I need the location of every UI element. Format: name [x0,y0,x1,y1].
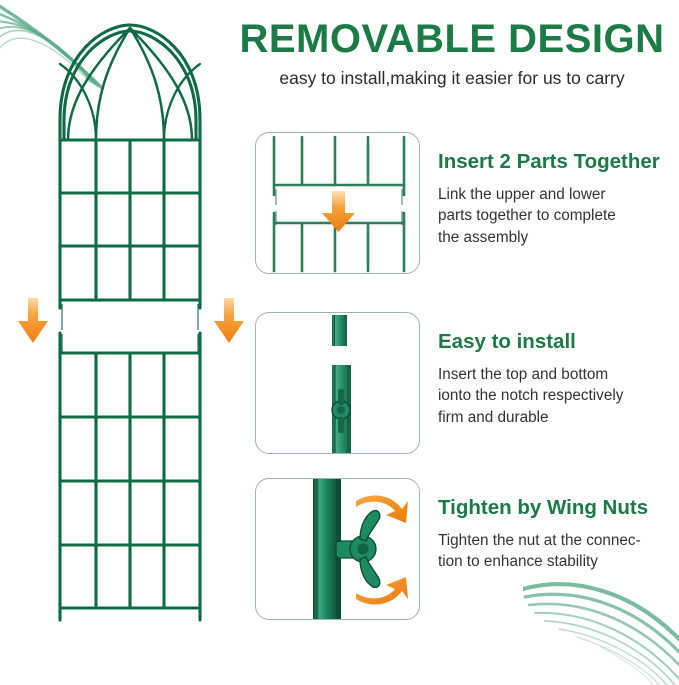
feature-easy-install: Easy to install Insert the top and botto… [255,312,676,454]
feature-title: Easy to install [438,330,676,355]
illustration-wing-nut-with-rotation-arrows [255,478,420,620]
feature-title: Insert 2 Parts Together [438,150,676,175]
infographic-canvas: REMOVABLE DESIGN easy to install,making … [0,0,679,679]
illustration-tube-notch-insertion [255,312,420,454]
page-title: REMOVABLE DESIGN [232,18,672,61]
feature-insert-parts: Insert 2 Parts Together Link the upper a… [255,132,676,274]
feature-text-block: Insert 2 Parts Together Link the upper a… [438,132,676,249]
feature-body: Insert the top and bottom ionto the notc… [438,364,676,429]
header-block: REMOVABLE DESIGN easy to install,making … [232,18,672,89]
feature-title: Tighten by Wing Nuts [438,496,676,521]
split-arrow-left-icon [16,298,50,344]
feature-body: Tighten the nut at the connec- tion to e… [438,530,676,573]
split-arrow-right-icon [212,298,246,344]
feature-text-block: Tighten by Wing Nuts Tighten the nut at … [438,478,676,573]
feature-wing-nuts: Tighten by Wing Nuts Tighten the nut at … [255,478,676,620]
feature-body: Link the upper and lower parts together … [438,184,676,249]
feature-text-block: Easy to install Insert the top and botto… [438,312,676,429]
page-subtitle: easy to install,making it easier for us … [232,68,672,89]
illustration-two-grid-panels-with-down-arrow [255,132,420,274]
